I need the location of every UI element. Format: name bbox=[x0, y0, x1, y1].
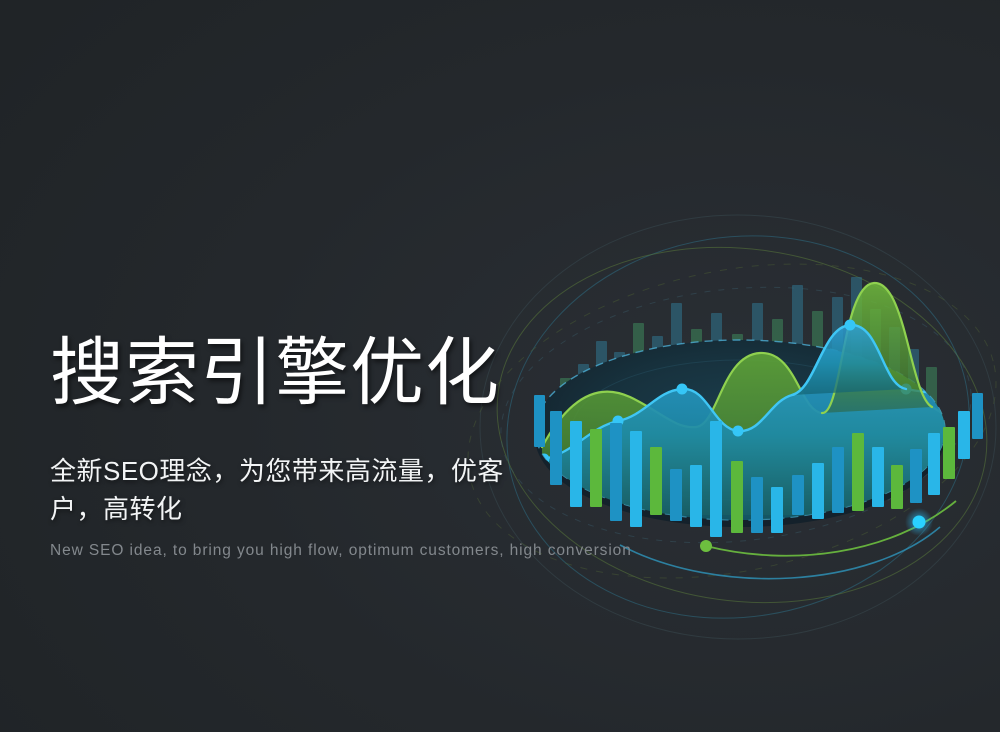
seo-hero-banner: 搜索引擎优化 全新SEO理念，为您带来高流量，优客户，高转化 New SEO i… bbox=[0, 0, 1000, 732]
green-orbit-dot bbox=[700, 540, 712, 552]
subtitle-en: New SEO idea, to bring you high flow, op… bbox=[50, 540, 590, 562]
cyan-orbit-arc bbox=[620, 527, 940, 579]
hero-text-block: 搜索引擎优化 全新SEO理念，为您带来高流量，优客户，高转化 New SEO i… bbox=[50, 330, 590, 562]
page-title: 搜索引擎优化 bbox=[50, 330, 590, 416]
subtitle-zh: 全新SEO理念，为您带来高流量，优客户，高转化 bbox=[50, 452, 520, 528]
cyan-orbit-dot bbox=[913, 516, 926, 529]
